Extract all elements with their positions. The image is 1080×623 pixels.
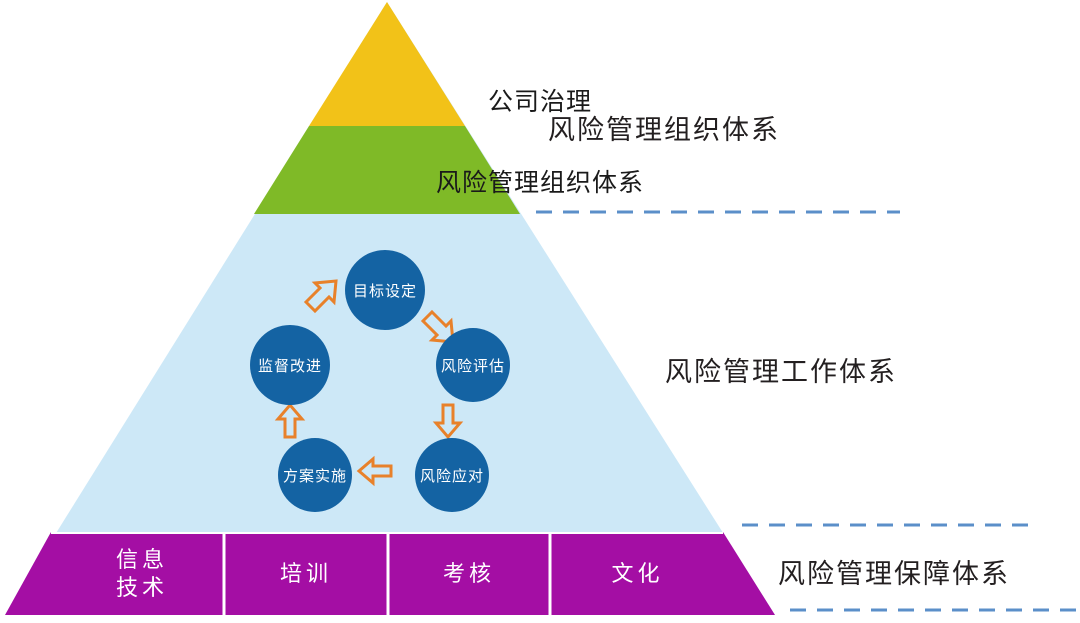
cycle-node-monitor[interactable]: 监督改进	[250, 325, 330, 405]
cycle-node-goal[interactable]: 目标设定	[345, 250, 425, 330]
base-cell-culture[interactable]: 文化	[550, 532, 725, 615]
base-cell-appraisal[interactable]: 考核	[388, 532, 550, 615]
side-label-support-system: 风险管理保障体系	[778, 552, 1010, 591]
base-cell-training[interactable]: 培训	[224, 532, 388, 615]
side-label-work-system: 风险管理工作体系	[665, 350, 897, 389]
cycle-node-implement[interactable]: 方案实施	[278, 438, 352, 512]
base-cell-it[interactable]: 信息 技术	[60, 532, 224, 615]
side-label-org-system: 风险管理组织体系	[548, 108, 780, 147]
cycle-node-assess[interactable]: 风险评估	[436, 328, 510, 402]
cycle-node-respond[interactable]: 风险应对	[415, 438, 489, 512]
tier-org-label: 风险管理组织体系	[0, 163, 1080, 199]
tier-apex-label: 公司治理	[0, 82, 1080, 118]
diagram-canvas: 公司治理 风险管理组织体系 目标设定 风险评估 风险应对 方案实施 监督改进 信…	[0, 0, 1080, 623]
